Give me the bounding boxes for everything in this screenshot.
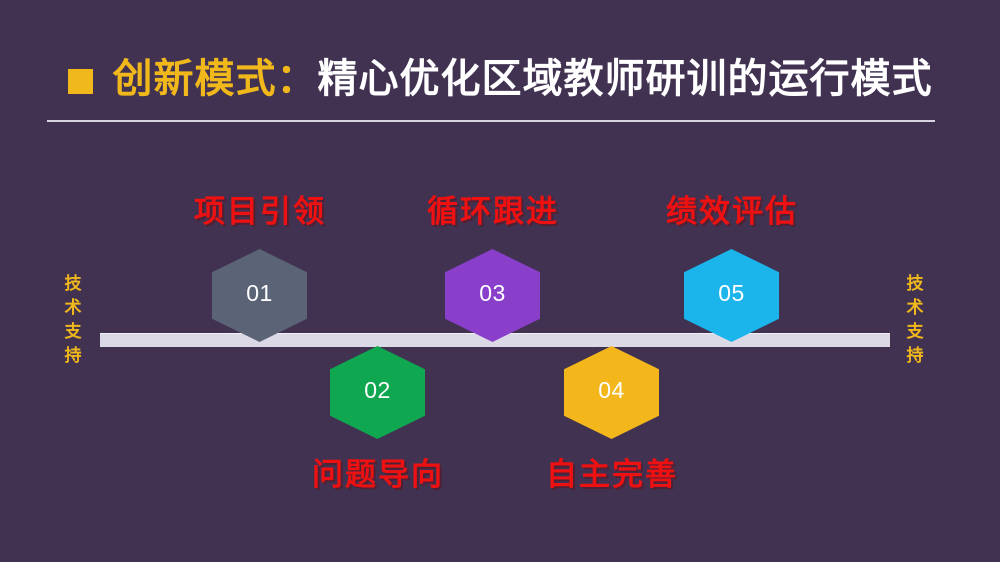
side-label-left-char-2: 术 — [60, 296, 86, 320]
stage-caption-02: 问题导向 — [263, 459, 493, 490]
side-label-right-char-3: 支 — [902, 320, 928, 344]
stage-number-01: 01 — [246, 280, 273, 307]
side-label-right-char-4: 持 — [902, 344, 928, 368]
slide-title: 创新模式： 精心优化区域教师研训的运行模式 — [0, 48, 1000, 110]
side-label-left-char-3: 支 — [60, 320, 86, 344]
stage-caption-04: 自主完善 — [497, 459, 727, 490]
stage-number-04: 04 — [598, 377, 625, 404]
side-label-left-char-4: 持 — [60, 344, 86, 368]
stage-number-03: 03 — [479, 280, 506, 307]
stage-hexagon-04[interactable]: 04 — [564, 346, 659, 439]
title-accent-text: 创新模式： — [113, 59, 318, 99]
stage-caption-01: 项目引领 — [145, 196, 375, 227]
title-divider — [47, 120, 935, 122]
slide-canvas: 创新模式： 精心优化区域教师研训的运行模式 技 术 支 持 技 术 支 持 项目… — [0, 0, 1000, 562]
side-label-right-char-2: 术 — [902, 296, 928, 320]
title-main-text: 精心优化区域教师研训的运行模式 — [318, 59, 933, 99]
stage-number-05: 05 — [718, 280, 745, 307]
side-label-right: 技 术 支 持 — [902, 272, 928, 369]
stage-number-02: 02 — [364, 377, 391, 404]
stage-hexagon-05[interactable]: 05 — [684, 249, 779, 342]
stage-hexagon-02[interactable]: 02 — [330, 346, 425, 439]
square-bullet-icon — [68, 69, 93, 94]
side-label-left: 技 术 支 持 — [60, 272, 86, 369]
stage-caption-03: 循环跟进 — [378, 196, 608, 227]
stage-hexagon-01[interactable]: 01 — [212, 249, 307, 342]
side-label-left-char-1: 技 — [60, 272, 86, 296]
stage-hexagon-03[interactable]: 03 — [445, 249, 540, 342]
side-label-right-char-1: 技 — [902, 272, 928, 296]
stage-caption-05: 绩效评估 — [617, 196, 847, 227]
